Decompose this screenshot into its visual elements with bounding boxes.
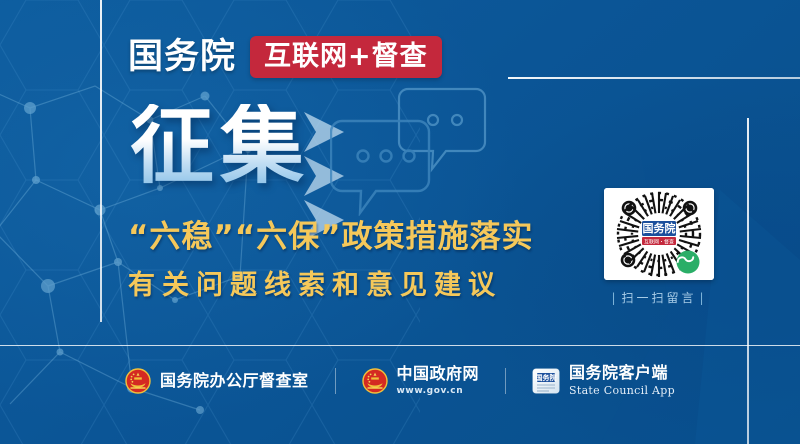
footer-item-state-council-app[interactable]: 国务院 国务院客户端 State Council App <box>532 365 675 397</box>
qr-code[interactable]: 国务院 互联网・督查 <box>604 188 714 280</box>
svg-text:国务院: 国务院 <box>536 373 557 382</box>
footer-sublabel: www.gov.cn <box>397 386 480 396</box>
svg-text:国务院: 国务院 <box>643 221 676 235</box>
page-title: 征集 <box>130 104 310 188</box>
horizontal-guide-line-header <box>508 77 800 79</box>
svg-text:互联网・督查: 互联网・督查 <box>644 239 674 246</box>
footer-label: 中国政府网 <box>397 366 480 383</box>
footer-separator <box>505 368 506 394</box>
footer-separator <box>335 368 336 394</box>
footer-divider-line <box>0 345 800 346</box>
footer-label: 国务院客户端 <box>569 365 675 382</box>
vertical-guide-line-left <box>100 0 102 322</box>
national-emblem-icon <box>362 368 388 394</box>
footer: 国务院办公厅督查室 中国政府网 www.gov.cn <box>0 352 800 410</box>
subtitle-line-1: “六稳”“六保”政策措施落实 <box>128 222 534 253</box>
header-title: 国务院 <box>128 40 236 75</box>
wechat-miniprogram-icon <box>677 251 700 274</box>
qr-caption-bar-right: | <box>700 291 707 305</box>
header: 国务院 互联网+督查 <box>128 36 442 78</box>
footer-item-state-council-office[interactable]: 国务院办公厅督查室 <box>125 368 309 394</box>
footer-sublabel-en: State Council App <box>569 384 675 397</box>
qr-caption-text: 扫一扫留言 <box>621 291 696 305</box>
qr-block: 国务院 互联网・督查 |扫一扫留言| <box>604 188 714 306</box>
footer-item-gov-cn[interactable]: 中国政府网 www.gov.cn <box>362 366 480 396</box>
speech-bubble-icon <box>330 86 610 216</box>
state-council-app-icon: 国务院 <box>532 367 560 395</box>
qr-caption-bar-left: | <box>611 291 618 305</box>
header-badge: 互联网+督查 <box>250 36 442 78</box>
national-emblem-icon <box>125 368 151 394</box>
qr-caption: |扫一扫留言| <box>604 289 714 306</box>
footer-label: 国务院办公厅督查室 <box>160 373 309 390</box>
qr-code-pattern: 国务院 互联网・督查 <box>604 188 714 280</box>
subtitle-line-2: 有关问题线索和意见建议 <box>128 272 502 299</box>
poster-banner: 国务院 互联网+督查 征集 “六稳”“六保”政策措施落实 有关问题线索和意见建议 <box>0 0 800 444</box>
